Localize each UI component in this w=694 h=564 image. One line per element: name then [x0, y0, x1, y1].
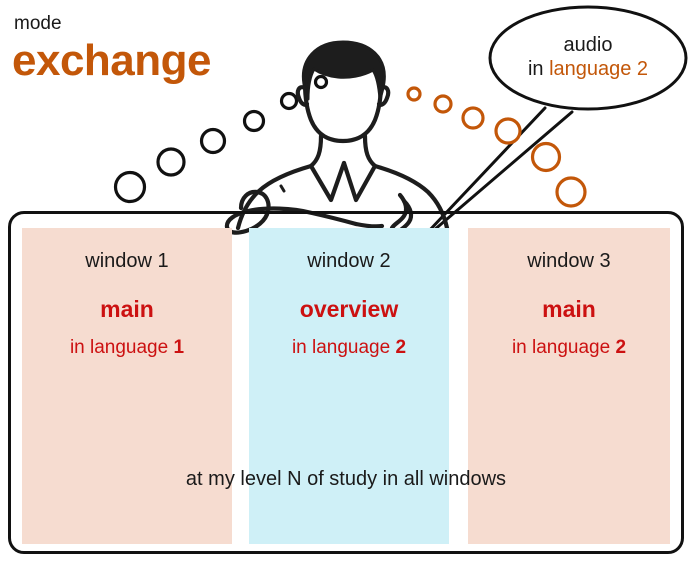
window-1-kind: main	[22, 297, 232, 322]
window-2-language-number: 2	[395, 337, 406, 358]
bubble-line-2-highlight: language 2	[549, 58, 648, 80]
window-2-language: in language 2	[249, 338, 449, 359]
bubble-line-1: audio	[564, 33, 613, 57]
window-3-language-prefix: in language	[512, 337, 616, 358]
diagram-canvas: mode exchange	[0, 0, 694, 564]
window-3-language: in language 2	[468, 338, 670, 359]
bubble-line-2-prefix: in	[528, 58, 549, 80]
thought-bubbles-left	[116, 77, 327, 212]
speech-bubble: audio in language 2	[489, 6, 687, 118]
person-illustration	[227, 42, 447, 234]
window-2-kind: overview	[249, 297, 449, 322]
window-1-language-prefix: in language	[70, 337, 174, 358]
mode-value: exchange	[12, 38, 211, 84]
window-1-language-number: 1	[173, 337, 184, 358]
window-3-title: window 3	[468, 250, 670, 272]
mode-label: mode	[14, 14, 62, 33]
bubble-line-2: in language 2	[528, 57, 648, 81]
window-2-language-prefix: in language	[292, 337, 396, 358]
panel-footnote: at my level N of study in all windows	[8, 468, 684, 491]
window-3-kind: main	[468, 297, 670, 322]
speech-bubble-text: audio in language 2	[489, 6, 687, 108]
window-column-3[interactable]: window 3 main in language 2	[468, 228, 670, 544]
window-1-language: in language 1	[22, 338, 232, 359]
window-1-title: window 1	[22, 250, 232, 272]
window-column-1[interactable]: window 1 main in language 1	[22, 228, 232, 544]
window-column-2[interactable]: window 2 overview in language 2	[249, 228, 449, 544]
windows-columns: window 1 main in language 1 window 2 ove…	[8, 228, 684, 544]
window-3-language-number: 2	[615, 337, 626, 358]
window-2-title: window 2	[249, 250, 449, 272]
